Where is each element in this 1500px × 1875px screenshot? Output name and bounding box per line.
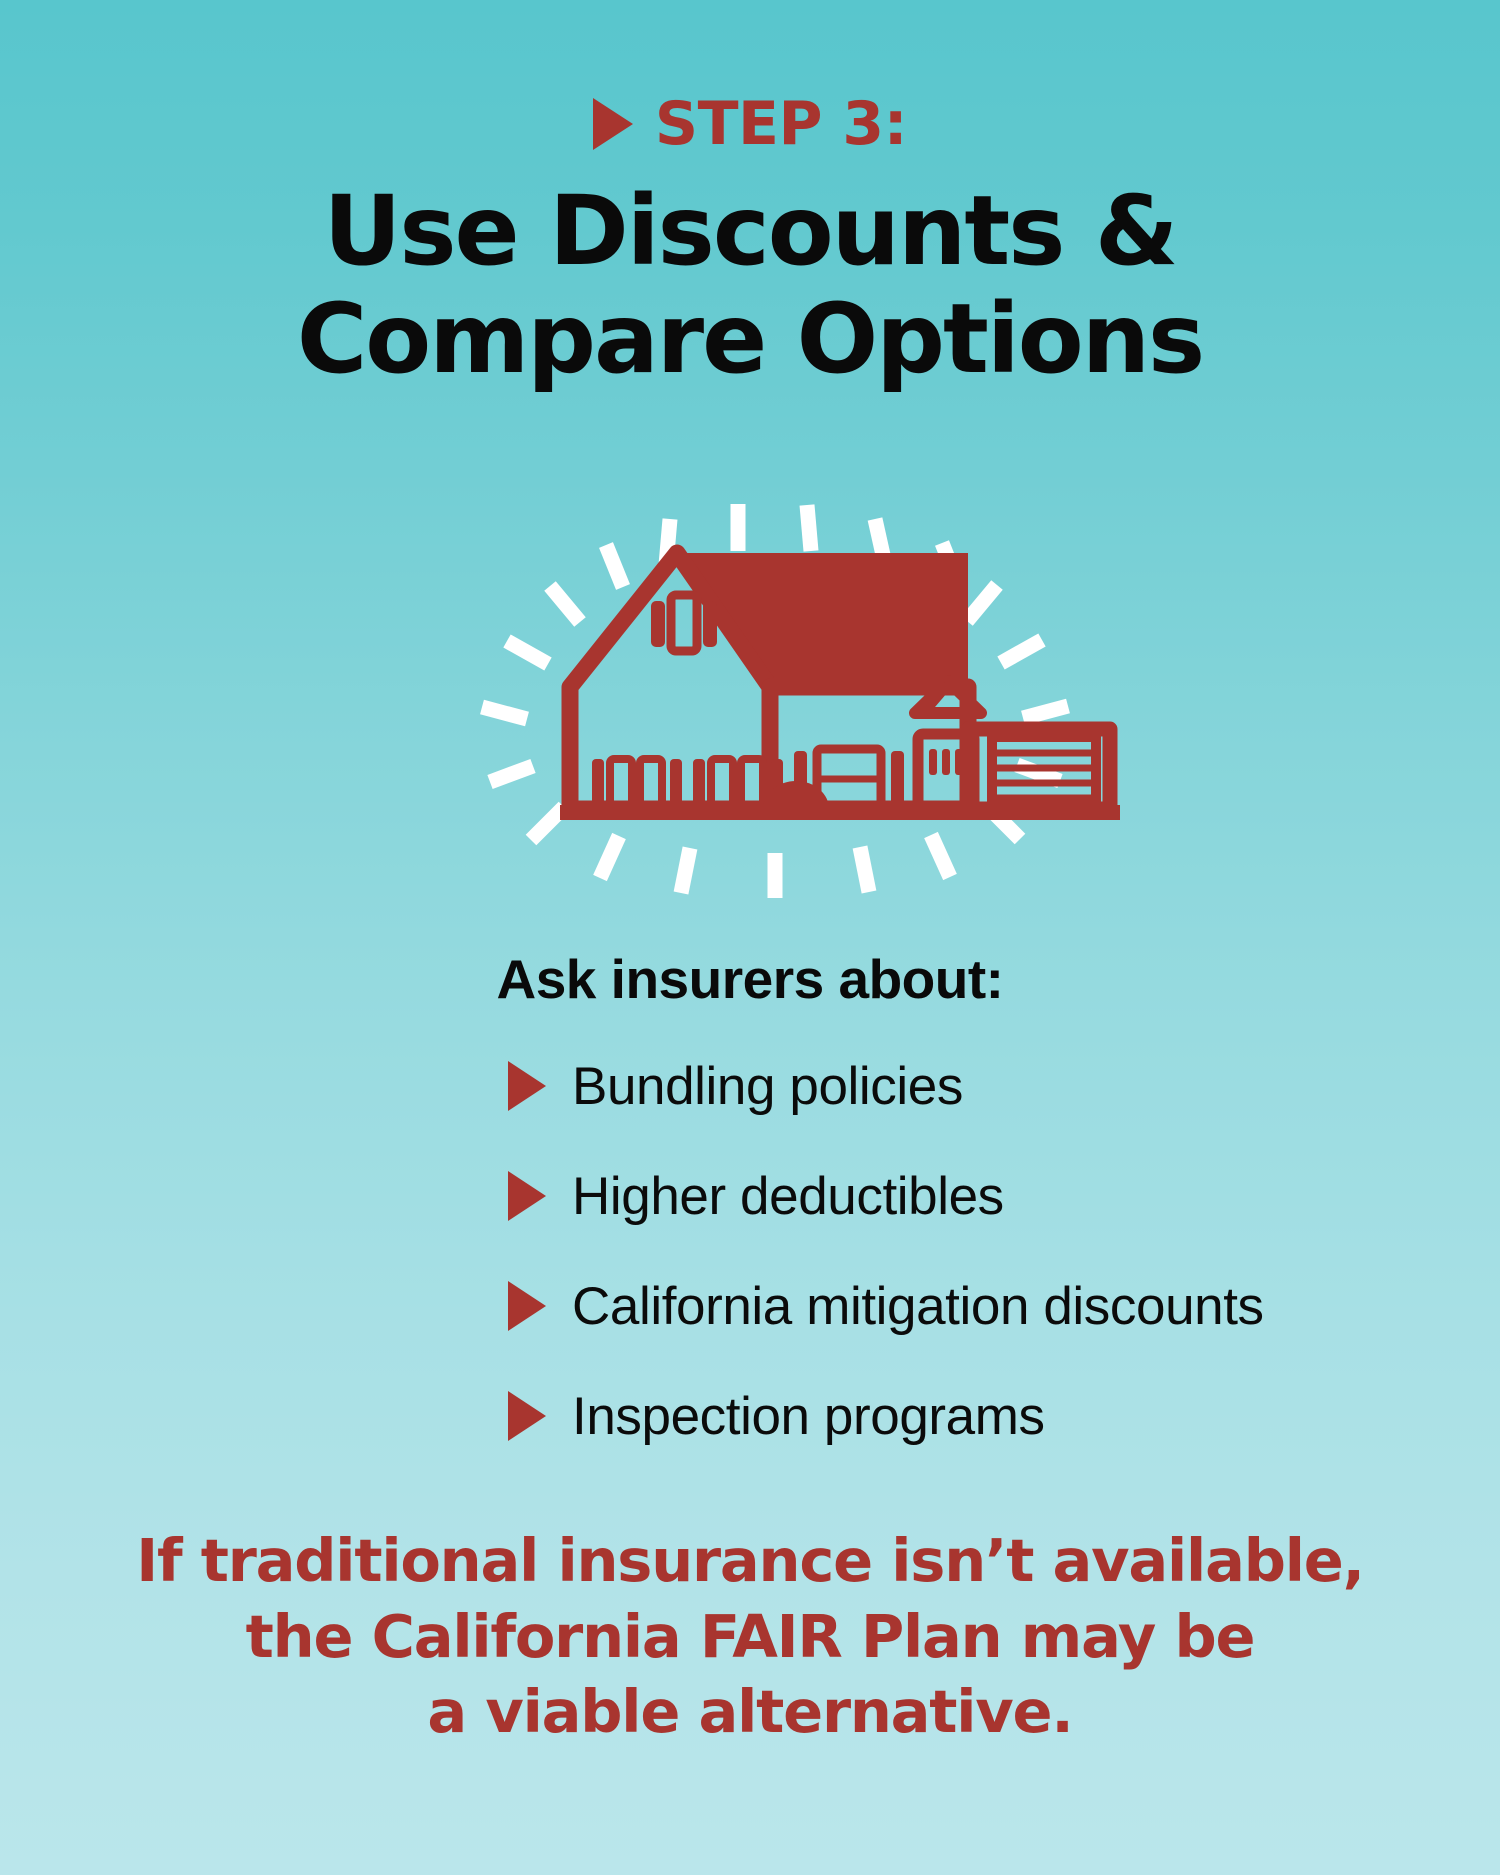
- house-icon: [560, 553, 1120, 820]
- triangle-right-icon: [508, 1171, 546, 1221]
- step-eyebrow: STEP 3:: [593, 92, 907, 156]
- list-item: California mitigation discounts: [508, 1275, 1270, 1337]
- list-item-label: Inspection programs: [572, 1390, 1045, 1443]
- triangle-right-icon: [508, 1391, 546, 1441]
- discount-options-list: Bundling policies Higher deductibles Cal…: [230, 1055, 1270, 1447]
- triangle-right-icon: [508, 1061, 546, 1111]
- page-title-line-1: Use Discounts &: [140, 178, 1360, 286]
- triangle-right-icon: [593, 98, 633, 150]
- footer-note-line-3: a viable alternative.: [110, 1674, 1390, 1750]
- page-title-line-2: Compare Options: [140, 286, 1360, 394]
- footer-note-line-1: If traditional insurance isn’t available…: [110, 1523, 1390, 1599]
- triangle-right-icon: [508, 1281, 546, 1331]
- list-item: Higher deductibles: [508, 1165, 1270, 1227]
- page-title: Use Discounts & Compare Options: [140, 178, 1360, 393]
- list-item: Inspection programs: [508, 1385, 1270, 1447]
- list-item-label: Higher deductibles: [572, 1170, 1004, 1223]
- footer-note: If traditional insurance isn’t available…: [110, 1523, 1390, 1750]
- list-item-label: Bundling policies: [572, 1060, 963, 1113]
- house-with-sunburst-icon: [370, 491, 1130, 901]
- list-item-label: California mitigation discounts: [572, 1280, 1264, 1333]
- ask-insurers-heading: Ask insurers about:: [496, 947, 1003, 1011]
- footer-note-line-2: the California FAIR Plan may be: [110, 1599, 1390, 1675]
- list-item: Bundling policies: [508, 1055, 1270, 1117]
- infographic-poster: STEP 3: Use Discounts & Compare Options: [0, 0, 1500, 1875]
- step-label: STEP 3:: [655, 94, 907, 154]
